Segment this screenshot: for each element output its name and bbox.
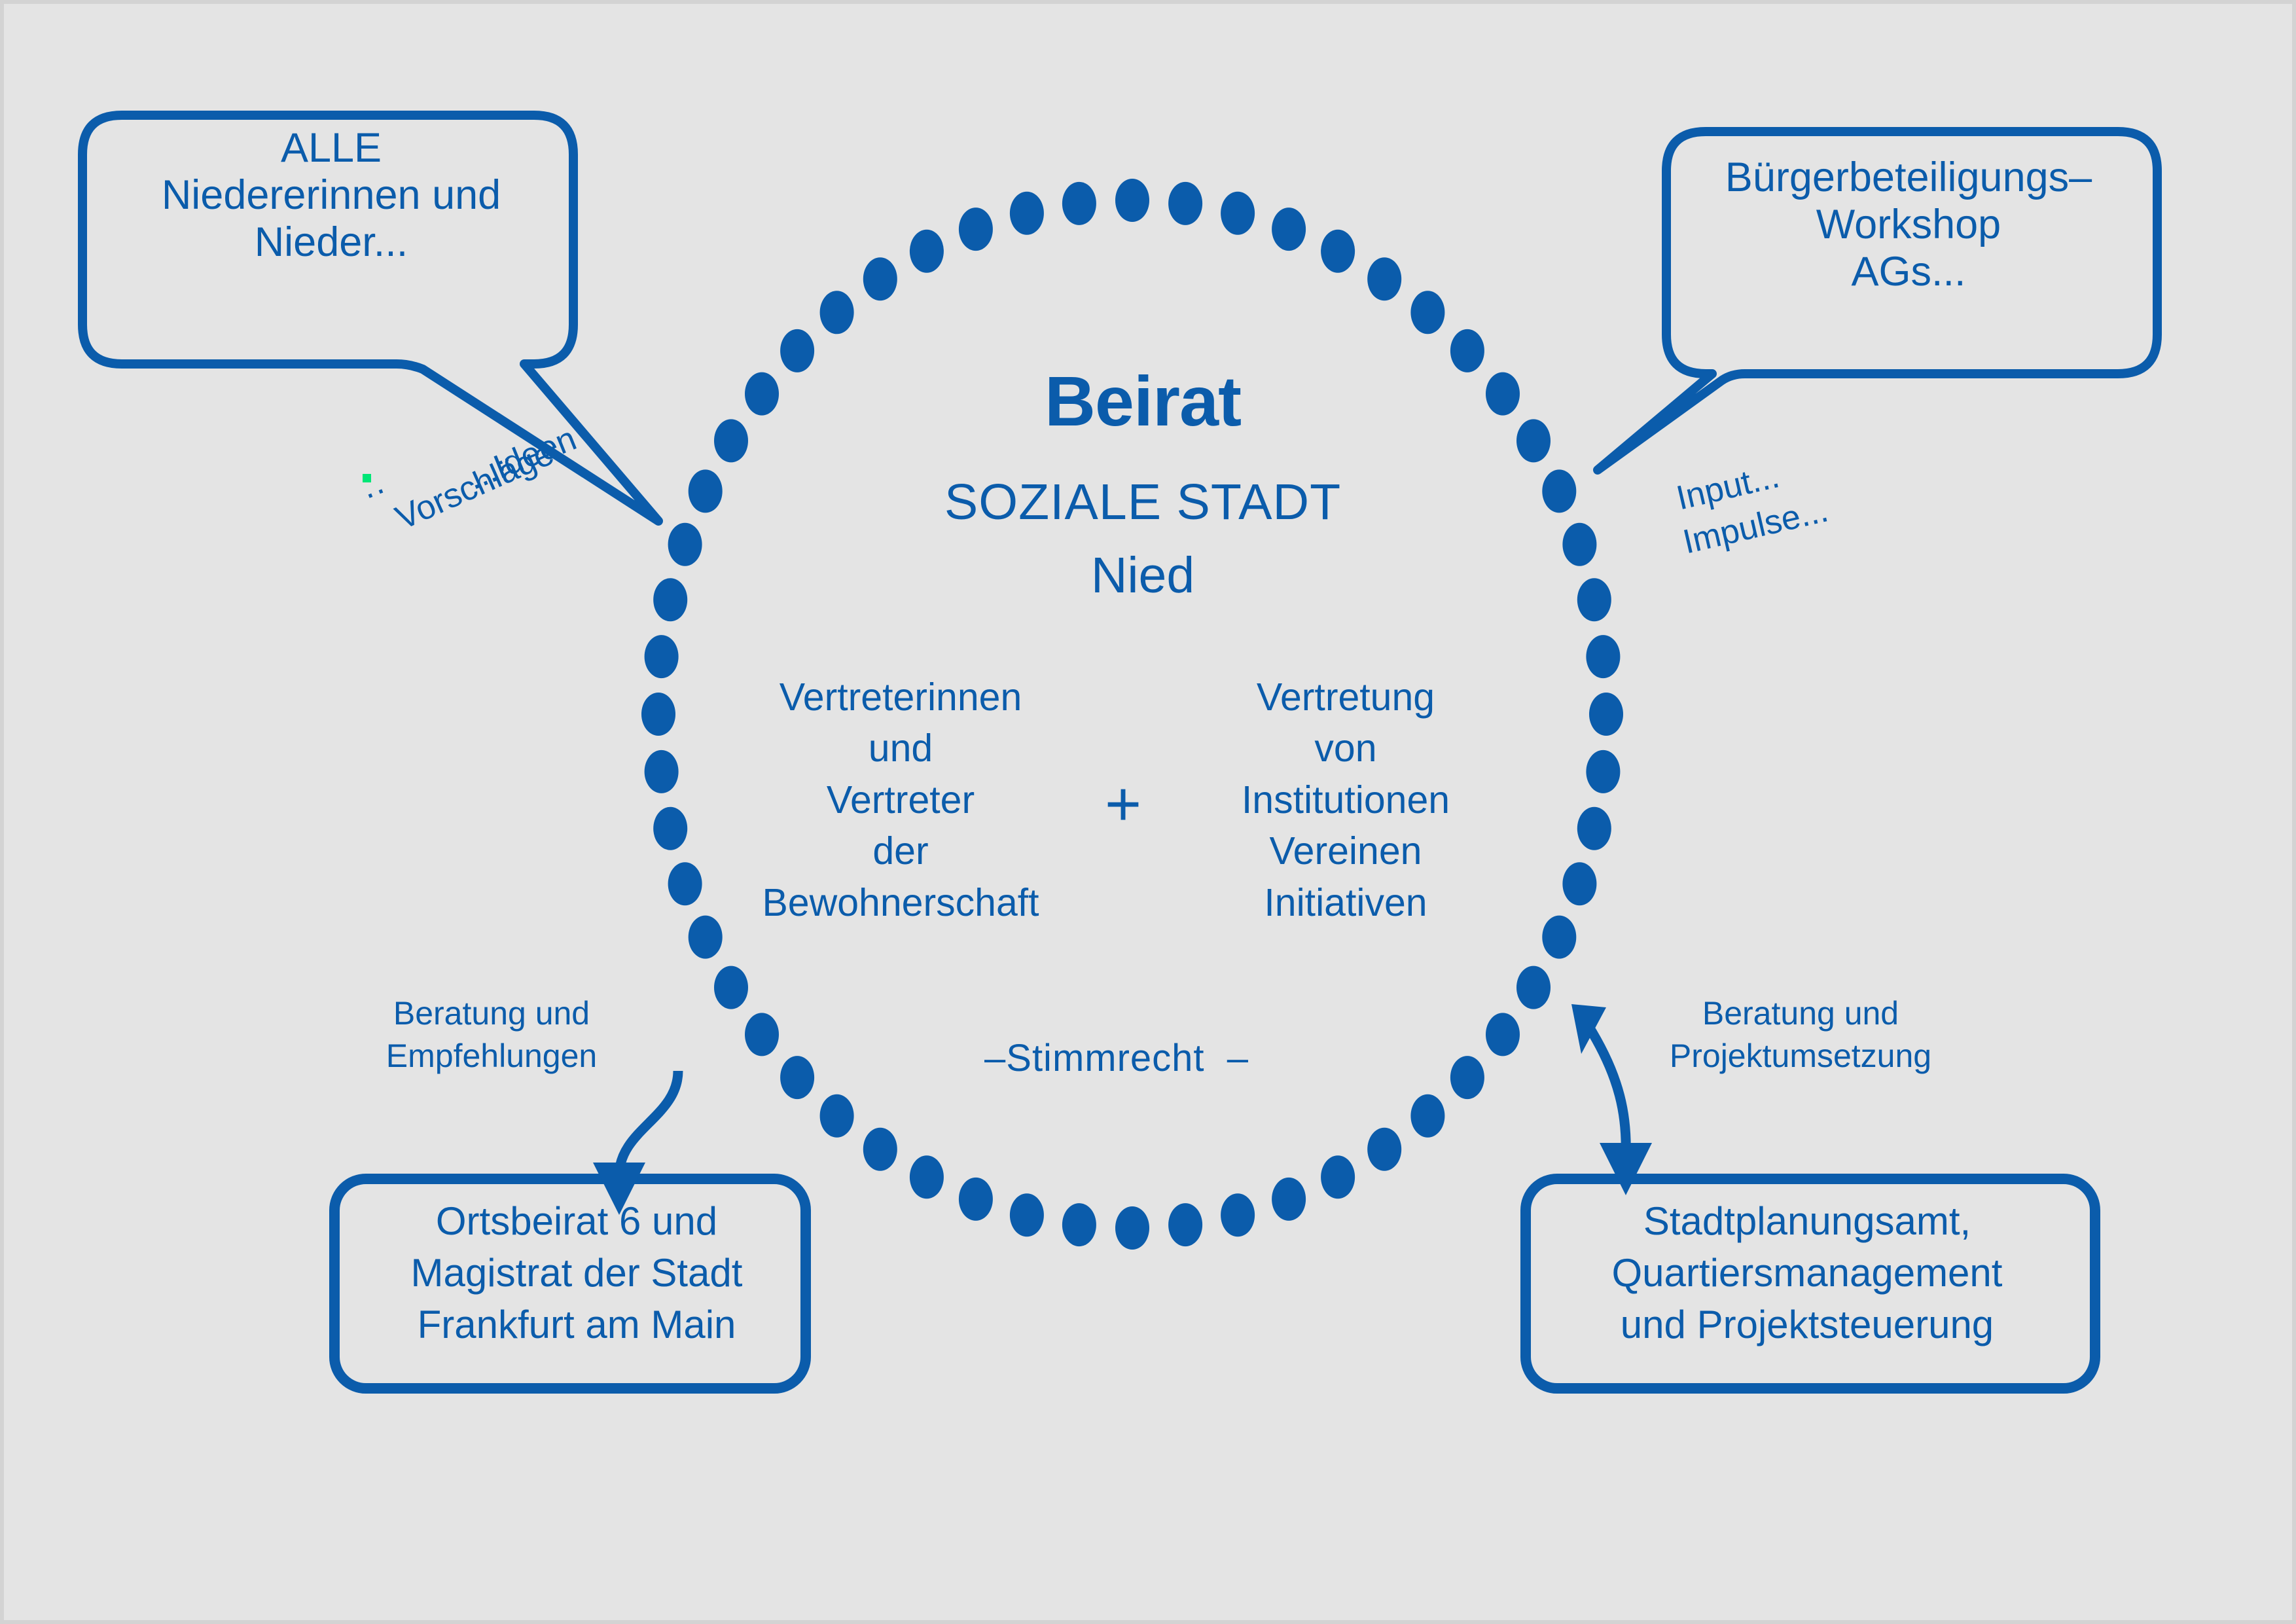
circle-dot <box>1115 1206 1149 1250</box>
circle-dot <box>745 372 779 416</box>
diagram-canvas: ALLE Niedererinnen und Nieder... Bürgerb… <box>0 0 2296 1624</box>
circle-dot <box>1410 1094 1444 1138</box>
circle-dot <box>1221 1193 1255 1236</box>
circle-dot <box>1010 1193 1044 1236</box>
circle-dot <box>1272 1178 1306 1221</box>
circle-dot <box>668 523 702 566</box>
center-column-left: Vertreterinnen und Vertreter der Bewohne… <box>698 672 1103 928</box>
circle-dot <box>653 807 687 850</box>
circle-dot <box>1577 807 1611 850</box>
circle-dot <box>959 208 993 251</box>
center-subheading-line1: SOZIALE STADT <box>776 474 1509 532</box>
circle-dot <box>1115 179 1149 222</box>
circle-dot <box>1516 966 1551 1009</box>
bubble-right-label: Bürgerbeteiligungs– Workshop AGs... <box>1679 154 2138 295</box>
circle-dot <box>1168 182 1202 225</box>
circle-dot <box>820 1094 854 1138</box>
circle-dot <box>668 862 702 905</box>
circle-dot <box>645 750 679 793</box>
circle-dot <box>1010 192 1044 235</box>
circle-dot <box>1367 1128 1401 1171</box>
circle-dot <box>1542 469 1576 513</box>
circle-dot <box>641 693 675 736</box>
circle-dot <box>1062 182 1096 225</box>
circle-dot <box>714 966 748 1009</box>
circle-dot <box>1321 1155 1355 1199</box>
arrow-left-shaft <box>619 1071 678 1176</box>
circle-dot <box>820 291 854 334</box>
circle-dot <box>959 1178 993 1221</box>
arrow-right-shaft <box>1588 1025 1626 1156</box>
circle-dot <box>1516 419 1551 462</box>
circle-dot <box>1272 208 1306 251</box>
circle-dot <box>910 1155 944 1199</box>
circle-dot <box>1062 1203 1096 1246</box>
circle-dot <box>910 230 944 273</box>
circle-dot <box>1562 862 1596 905</box>
center-footer-note: –Stimmrecht – <box>914 1037 1319 1080</box>
circle-dot <box>1168 1203 1202 1246</box>
circle-dot <box>1410 291 1444 334</box>
circle-dot <box>1367 257 1401 300</box>
circle-dot <box>1577 578 1611 621</box>
circle-dot <box>1562 523 1596 566</box>
circle-dot <box>1221 192 1255 235</box>
circle-dot <box>653 578 687 621</box>
bubble-left-label: ALLE Niedererinnen und Nieder... <box>102 125 560 266</box>
circle-dot <box>1321 230 1355 273</box>
circle-dot <box>1589 693 1623 736</box>
circle-dot <box>1586 635 1620 678</box>
center-column-right: Vertretung von Institutionen Vereinen In… <box>1162 672 1529 928</box>
circle-dot <box>745 1013 779 1056</box>
arrow-label-right: Beratung und Projektumsetzung <box>1643 992 1958 1077</box>
circle-dot <box>863 257 897 300</box>
arrow-left-downward <box>593 1071 678 1215</box>
center-subheading-line2: Nied <box>776 547 1509 605</box>
circle-dot <box>714 419 748 462</box>
center-heading: Beirat <box>776 361 1509 441</box>
circle-dot <box>863 1128 897 1171</box>
circle-dot <box>689 469 723 513</box>
circle-dot <box>1586 750 1620 793</box>
circle-dot <box>645 635 679 678</box>
arrow-right-bidirectional <box>1571 1004 1652 1195</box>
circle-dot <box>1486 1013 1520 1056</box>
box-right-label: Stadtplanungsamt, Quartiersmanagement un… <box>1529 1195 2085 1351</box>
circle-dot <box>780 1056 814 1099</box>
arrow-right-head-down <box>1600 1143 1652 1195</box>
circle-dot <box>1450 1056 1484 1099</box>
box-left-label: Ortsbeirat 6 und Magistrat der Stadt Fra… <box>351 1195 802 1351</box>
arrow-label-left: Beratung und Empfehlungen <box>351 992 632 1077</box>
circle-dot <box>1542 916 1576 959</box>
plus-operator: + <box>1077 773 1169 836</box>
